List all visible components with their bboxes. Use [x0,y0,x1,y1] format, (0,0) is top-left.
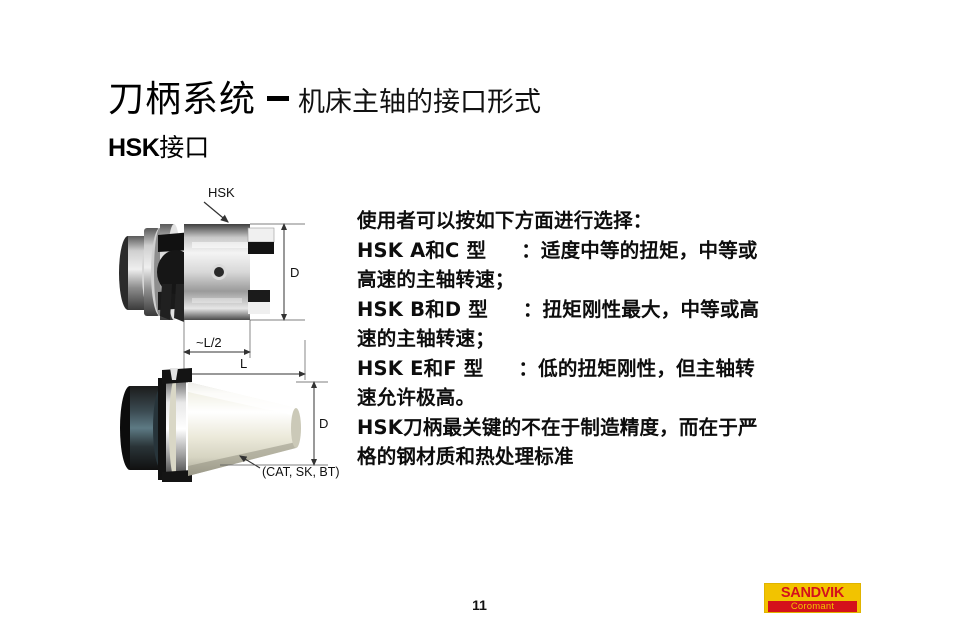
title-main-text: 刀柄系统 [108,79,256,119]
body-line: HSK刀柄最关键的不在于制造精度，而在于严 [357,413,827,443]
body-line: HSK E和F 型 ：低的扭矩刚性，但主轴转 [357,354,827,384]
slide-canvas: 刀柄系统机床主轴的接口形式 HSK接口 [0,0,959,619]
title-sub-text: 机床主轴的接口形式 [298,87,541,117]
page-title: 刀柄系统机床主轴的接口形式 [108,70,541,122]
body-line: HSK A和C 型 ：适度中等的扭矩，中等或 [357,236,827,266]
hsk-callout-label: HSK [208,185,235,200]
body-line: 速的主轴转速； [357,324,827,354]
logo-sub-text: Coromant [768,601,857,612]
logo-brand-text: SANDVIK [768,586,857,601]
subtitle-en-text: HSK [108,134,159,162]
dimension-d-bottom-label: D [319,416,328,431]
dimension-half-l: ~L/2 [184,320,250,358]
dimension-d-top-label: D [290,265,299,280]
toolholder-diagram: HSK D ~L/2 L [100,180,352,482]
body-line: 高速的主轴转速； [357,265,827,295]
body-line: 速允许极高。 [357,383,827,413]
subtitle-cn-text: 接口 [159,135,209,162]
hsk-toolholder-illustration [119,224,274,322]
taper-callout-label: (CAT, SK, BT) [262,465,340,479]
dimension-half-l-label: ~L/2 [196,335,222,350]
body-line: 使用者可以按如下方面进行选择： [357,206,827,236]
taper-callout: (CAT, SK, BT) [240,456,340,479]
sandvik-coromant-logo: SANDVIK Coromant [764,583,861,613]
dimension-l-label: L [240,356,247,371]
title-dash-icon [267,96,289,101]
hsk-callout: HSK [204,185,235,222]
body-line: 格的钢材质和热处理标准 [357,442,827,472]
section-subtitle: HSK接口 [108,128,209,164]
body-line: HSK B和D 型 ：扭矩刚性最大，中等或高 [357,295,827,325]
body-text-block: 使用者可以按如下方面进行选择： HSK A和C 型 ：适度中等的扭矩，中等或 高… [357,206,827,472]
